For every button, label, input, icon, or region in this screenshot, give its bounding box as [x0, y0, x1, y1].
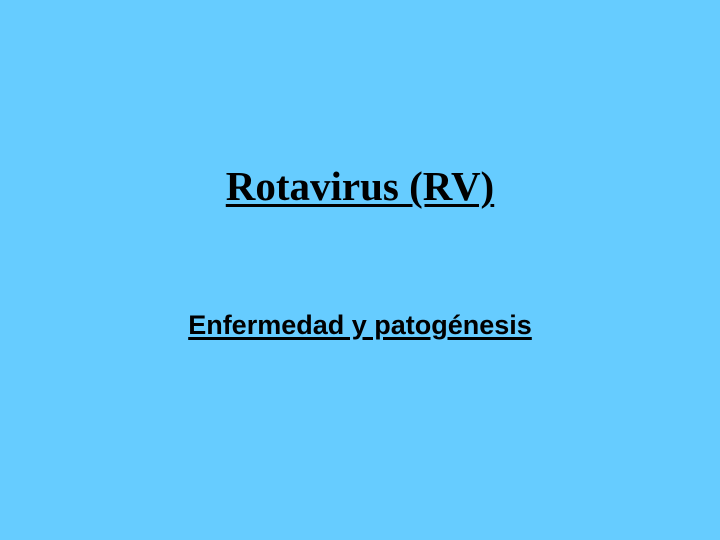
slide-subtitle: Enfermedad y patogénesis — [0, 309, 720, 342]
page-title: Rotavirus (RV) — [0, 163, 720, 209]
presentation-slide: Rotavirus (RV) Enfermedad y patogénesis — [0, 0, 720, 540]
